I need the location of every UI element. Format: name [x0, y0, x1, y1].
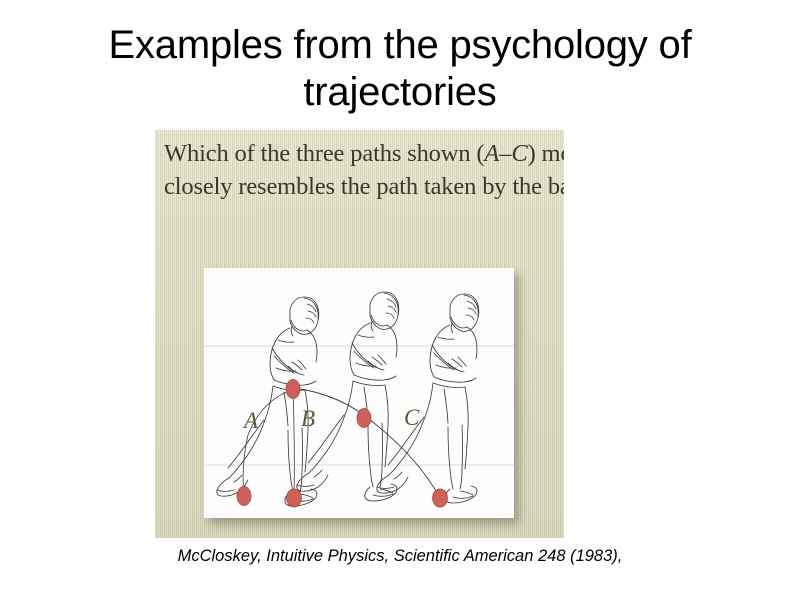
trajectory-illustration: A B C [204, 268, 514, 518]
ball-midflight-figure-2 [357, 409, 371, 428]
citation: McCloskey, Intuitive Physics, Scientific… [0, 547, 800, 566]
figure-question-line-2: closely resembles the path taken by the … [164, 170, 559, 203]
question-label-c: C [511, 140, 527, 167]
title-line-1: Examples from the psychology of [109, 23, 692, 67]
figure-question-text: Which of the three paths shown (A–C) mos… [164, 137, 559, 203]
page-title: Examples from the psychology of trajecto… [30, 22, 770, 116]
slide: Examples from the psychology of trajecto… [0, 0, 800, 600]
figure-panel: Which of the three paths shown (A–C) mos… [155, 130, 564, 538]
path-label-a: A [242, 408, 259, 433]
question-line1-post: ) most [528, 140, 564, 167]
trajectory-path-a [243, 390, 292, 496]
path-label-c: C [404, 405, 420, 430]
ball-held-figure-1 [286, 380, 300, 399]
ball-landed-path-c [433, 489, 448, 507]
trajectory-path-b [293, 390, 294, 498]
ball-landed-path-a [237, 487, 251, 506]
path-label-b: B [301, 406, 315, 431]
walker-figure-3 [377, 294, 479, 503]
ball-landed-path-b [287, 489, 302, 507]
walker-figure-1 [217, 297, 319, 506]
trajectory-balls [237, 380, 448, 508]
walker-figure-2 [297, 292, 399, 501]
figure-question-line-1: Which of the three paths shown (A–C) mos… [164, 137, 559, 170]
illustration-box: A B C [204, 268, 514, 518]
question-label-a: A [484, 140, 499, 167]
question-line1-pre: Which of the three paths shown ( [164, 140, 484, 167]
title-line-2: trajectories [303, 70, 496, 114]
question-dash: – [499, 140, 511, 167]
